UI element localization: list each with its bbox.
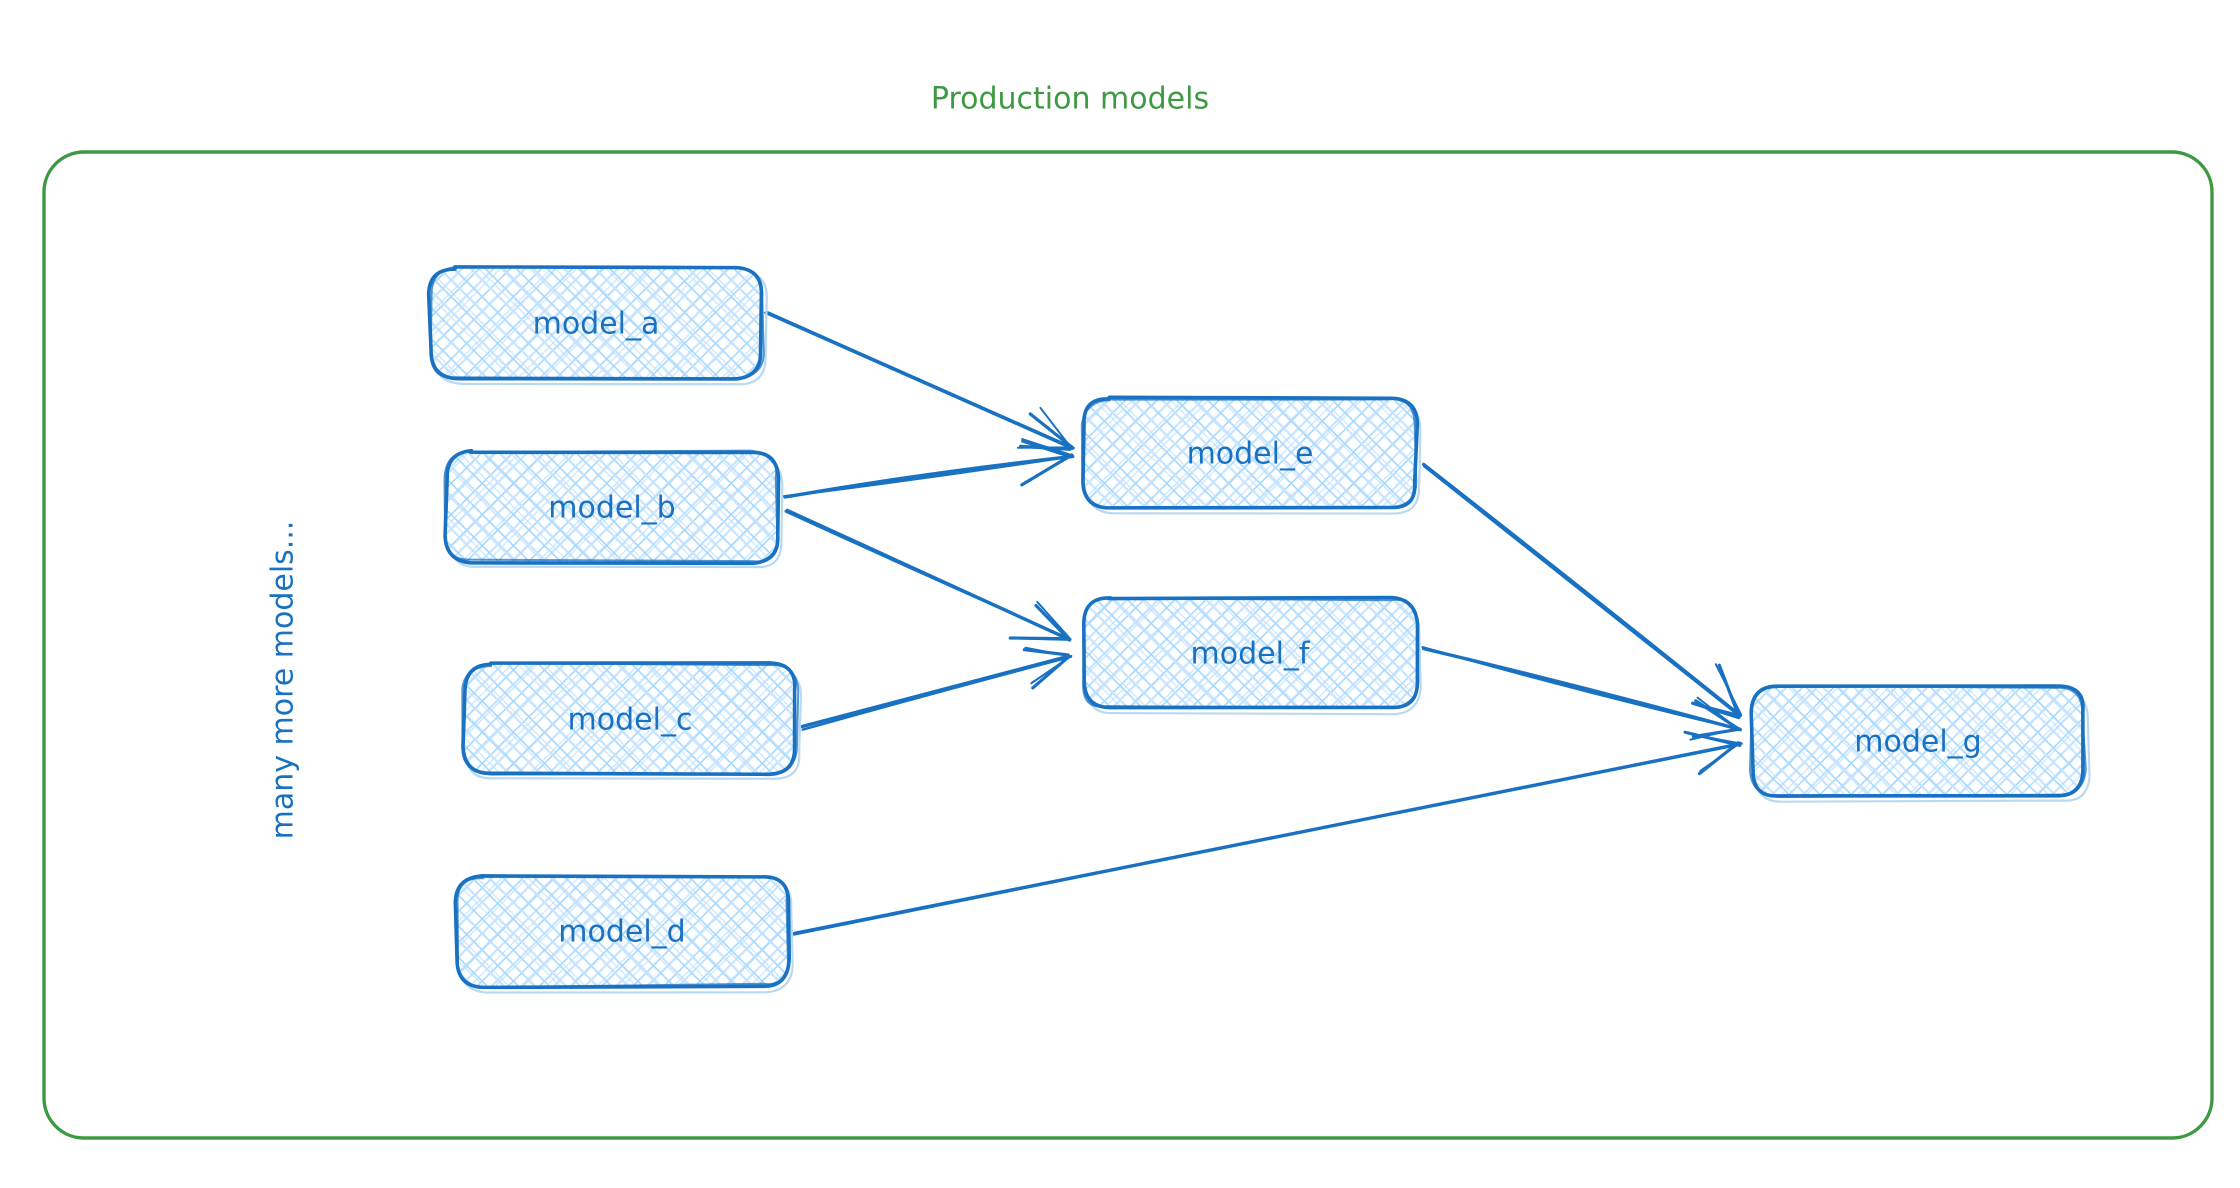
edge-model-d-to-model-g bbox=[794, 732, 1742, 934]
edge-line bbox=[803, 657, 1071, 730]
nodes-layer: model_amodel_bmodel_cmodel_dmodel_emodel… bbox=[429, 267, 2090, 993]
node-label: model_g bbox=[1854, 725, 1981, 760]
node-label: model_e bbox=[1187, 437, 1314, 472]
node-label: model_c bbox=[568, 703, 693, 738]
arrowhead-barb bbox=[1018, 639, 1069, 640]
node-model-d[interactable]: model_d bbox=[455, 875, 792, 992]
node-model-g[interactable]: model_g bbox=[1750, 685, 2089, 801]
edge-line bbox=[783, 456, 1071, 496]
node-label: model_d bbox=[558, 915, 685, 950]
edge-line bbox=[1424, 466, 1739, 716]
edge-model-a-to-model-e bbox=[765, 313, 1073, 450]
node-model-b[interactable]: model_b bbox=[444, 451, 782, 568]
diagram-svg: Production models model_amodel_bmodel_cm… bbox=[0, 0, 2240, 1188]
node-label: model_f bbox=[1191, 637, 1311, 672]
node-label: model_b bbox=[548, 491, 675, 526]
edge-line bbox=[786, 511, 1071, 639]
edge-model-f-to-model-g bbox=[1423, 647, 1741, 739]
diagram-canvas: Production models model_amodel_bmodel_cm… bbox=[0, 0, 2240, 1188]
arrowhead-barb bbox=[1692, 734, 1742, 743]
page-title: Production models bbox=[931, 82, 1209, 117]
edge-model-c-to-model-f bbox=[802, 648, 1071, 730]
edge-model-e-to-model-g bbox=[1424, 464, 1741, 717]
node-model-e[interactable]: model_e bbox=[1082, 397, 1421, 513]
edge-model-b-to-model-f bbox=[786, 510, 1071, 640]
node-model-a[interactable]: model_a bbox=[429, 267, 767, 385]
edge-line bbox=[765, 313, 1072, 449]
side-note-many-more-models: many more models... bbox=[266, 521, 301, 840]
edge-line bbox=[794, 744, 1739, 935]
node-model-f[interactable]: model_f bbox=[1083, 597, 1421, 714]
node-label: model_a bbox=[533, 307, 660, 342]
arrowhead-barb bbox=[1036, 606, 1070, 641]
node-model-c[interactable]: model_c bbox=[462, 663, 801, 779]
